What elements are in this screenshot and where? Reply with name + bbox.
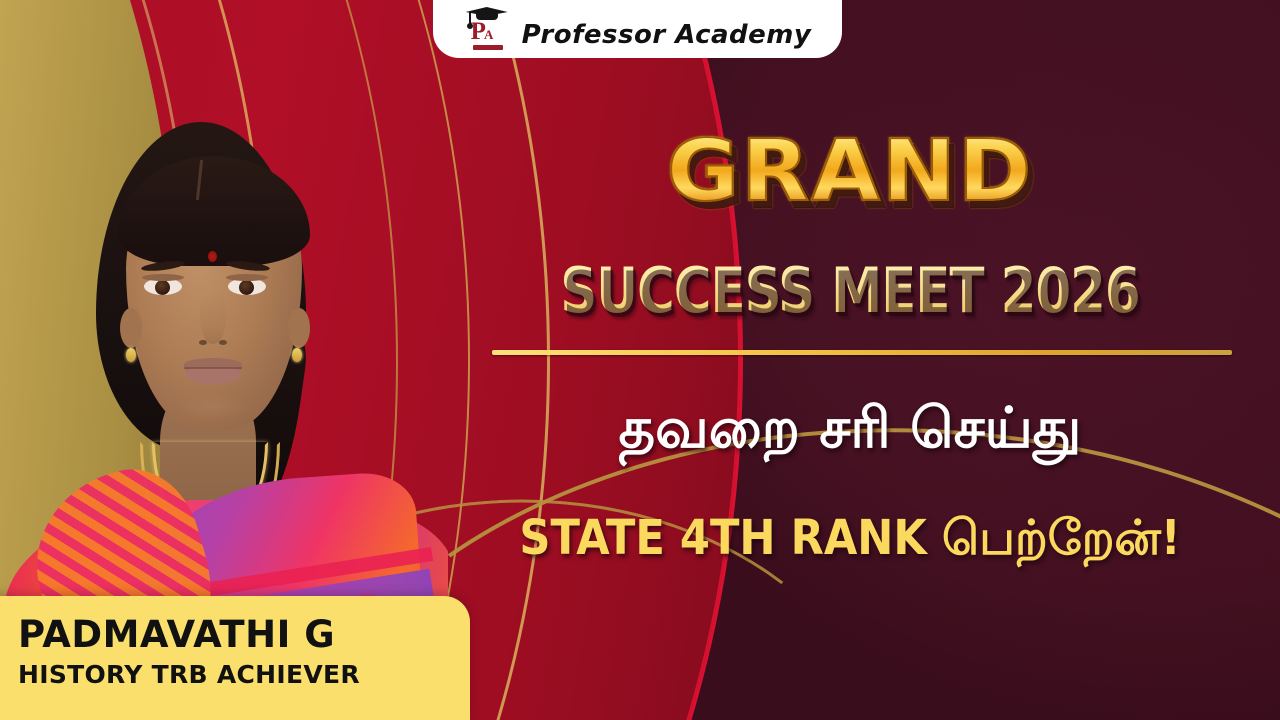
eyelid-left	[142, 274, 184, 281]
logo-pedestal	[473, 45, 503, 50]
success-meet-poster: PA Professor Academy GRAND SUCCESS MEET …	[0, 0, 1280, 720]
achiever-title: HISTORY TRB ACHIEVER	[18, 658, 470, 692]
mouth-line	[184, 367, 242, 369]
nostril-left	[199, 340, 207, 345]
headline-content: GRAND SUCCESS MEET 2026 தவறை சரி செய்து …	[430, 110, 1270, 610]
brand-logo-pill[interactable]: PA Professor Academy	[433, 0, 842, 58]
iris-left	[155, 280, 170, 295]
ear-right	[288, 308, 310, 348]
headline-grand: GRAND	[413, 128, 1280, 216]
iris-right	[239, 280, 254, 295]
nostril-right	[219, 340, 227, 345]
testimonial-rank-line: STATE 4TH RANK பெற்றேன்!	[420, 508, 1280, 568]
eyelid-right	[226, 274, 268, 281]
graduation-cap-icon: PA	[464, 4, 510, 50]
ear-left	[120, 308, 142, 348]
bindi-icon	[208, 251, 217, 262]
earring-left	[126, 348, 136, 362]
lower-lip	[186, 368, 240, 384]
headline-success-meet: SUCCESS MEET 2026	[464, 258, 1237, 324]
achiever-name: PADMAVATHI G	[18, 612, 470, 658]
logo-monogram-a: A	[484, 27, 491, 42]
chin-highlight	[178, 394, 248, 420]
brand-name: Professor Academy	[522, 20, 812, 50]
earring-right	[292, 348, 302, 362]
logo-monogram-p: P	[471, 18, 484, 45]
achiever-name-banner: PADMAVATHI G HISTORY TRB ACHIEVER	[0, 596, 470, 720]
testimonial-tamil-line: தவறை சரி செய்து	[430, 395, 1270, 463]
achiever-portrait-photo	[10, 112, 440, 652]
gold-divider	[492, 350, 1232, 355]
nose	[200, 292, 226, 344]
